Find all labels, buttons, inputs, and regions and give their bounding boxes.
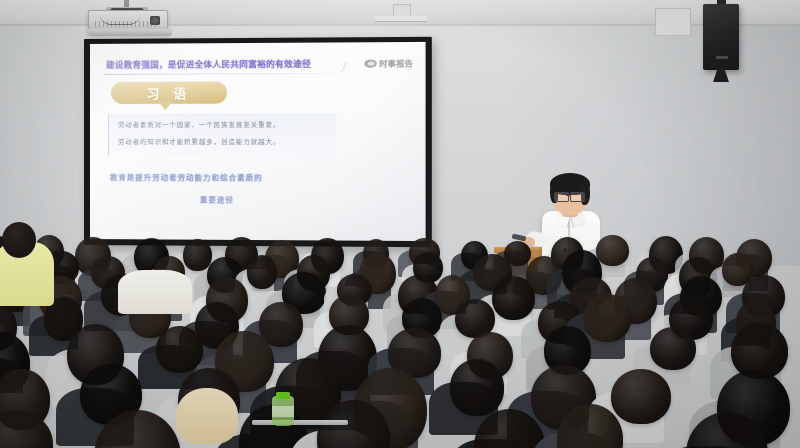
lecture-hall-photo: 建设教育强国，是促进全体人民共同富裕的有效途径 时事报告 习 语 劳动者素质对一… (0, 0, 800, 448)
projector-cable (100, 14, 140, 25)
projector-lens (150, 16, 160, 25)
ceiling-bracket (375, 16, 427, 22)
audience-member-head (247, 255, 278, 289)
drink-bottle-cap (276, 392, 290, 399)
projection-screen: 建设教育强国，是促进全体人民共同富裕的有效途径 时事报告 习 语 劳动者素质对一… (84, 37, 432, 247)
audience-member-head (611, 369, 671, 424)
slide-header: 建设教育强国，是促进全体人民共同富裕的有效途径 时事报告 (106, 55, 413, 73)
desk-edge (252, 420, 348, 425)
presenter-glasses-right-lens (570, 192, 585, 202)
emphasis-line-1: 教育是提升劳动者劳动能力和综合素质的 (110, 172, 384, 184)
emphasis-line-2: 重要途径 (90, 194, 346, 206)
ceiling-vent (655, 8, 691, 36)
audience: BLACYOUTHLIVE (0, 236, 800, 448)
quote-line-1: 劳动者素质对一个国家、一个民族发展至关重要。 (118, 120, 280, 129)
section-banner-label: 习 语 (111, 81, 227, 103)
audience-member-head (492, 276, 535, 321)
audience-member-head (183, 239, 211, 271)
brand-mark-icon (365, 60, 377, 68)
slide-title-underline (104, 73, 338, 75)
audience-member-head (596, 235, 629, 266)
screen-surface: 建设教育强国，是促进全体人民共同富裕的有效途径 时事报告 习 语 劳动者素质对一… (90, 42, 426, 241)
audience-member-cream-shirt (118, 270, 192, 314)
audience-member-head (450, 359, 505, 415)
slide-title-tick (319, 62, 347, 72)
speaker-badge (716, 56, 728, 59)
brand-name: 时事报告 (379, 58, 413, 69)
quote-line-2: 劳动者的知识和才能积累越多，创造能力就越大。 (118, 137, 280, 146)
projector-underside (88, 29, 172, 36)
brand-logo: 时事报告 (365, 58, 414, 69)
audience-member-head (583, 294, 631, 343)
audience-member-head (2, 222, 36, 258)
presenter-glasses-left-lens (554, 192, 569, 202)
drink-bottle-label (272, 406, 294, 417)
audience-member-head (650, 327, 696, 370)
presenter-glasses-bridge (566, 195, 571, 196)
slide: 建设教育强国，是促进全体人民共同富裕的有效途径 时事报告 习 语 劳动者素质对一… (90, 42, 426, 241)
slide-title: 建设教育强国，是促进全体人民共同富裕的有效途径 (106, 58, 311, 71)
wall-speaker (703, 4, 739, 70)
audience-member-blonde-hair (176, 388, 238, 444)
